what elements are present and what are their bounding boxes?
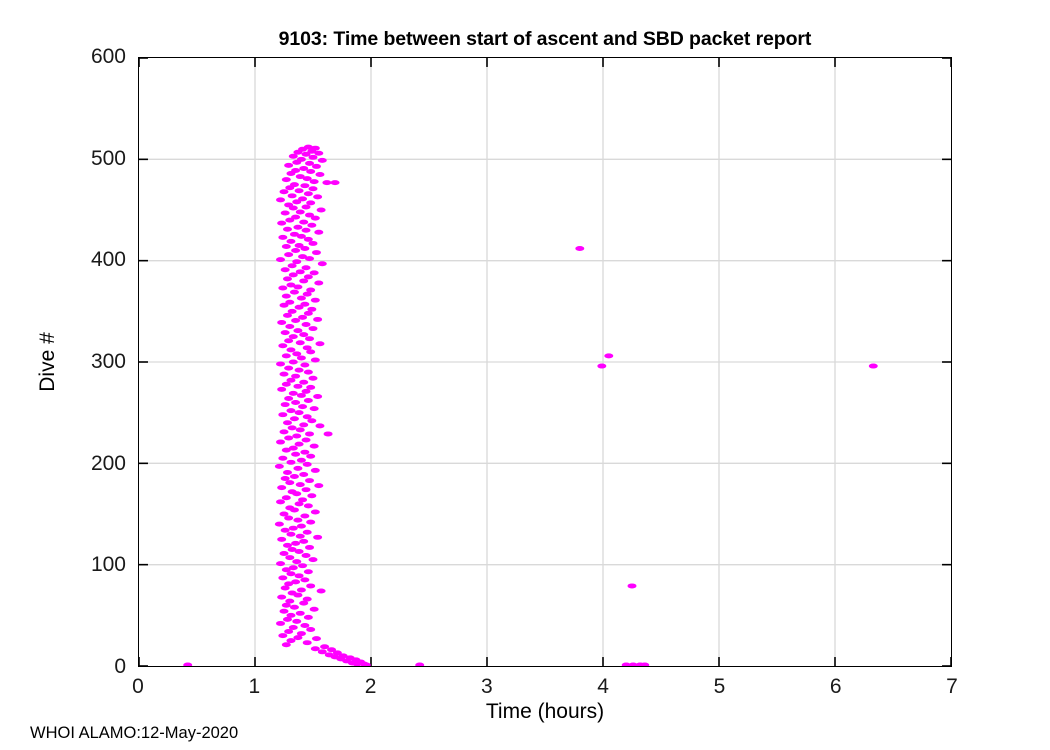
scatter-point	[302, 438, 311, 443]
scatter-point	[299, 220, 308, 225]
scatter-point	[275, 464, 284, 469]
scatter-point	[283, 276, 292, 281]
scatter-point	[293, 518, 302, 523]
scatter-point	[297, 393, 306, 398]
scatter-point	[296, 534, 305, 539]
scatter-point	[284, 366, 293, 371]
x-tick-label: 6	[830, 675, 842, 699]
scatter-point	[305, 431, 314, 436]
scatter-point	[290, 290, 299, 295]
scatter-point	[309, 186, 318, 191]
scatter-point	[306, 349, 315, 354]
scatter-point	[310, 179, 319, 184]
scatter-point	[311, 509, 320, 514]
x-tick-label: 3	[481, 675, 493, 699]
scatter-point	[281, 585, 290, 590]
scatter-point	[284, 396, 293, 401]
scatter-point	[299, 380, 308, 385]
scatter-point	[292, 619, 301, 624]
scatter-point	[307, 493, 316, 498]
scatter-point	[306, 169, 315, 174]
scatter-point	[282, 603, 291, 608]
x-tick-label: 4	[597, 675, 609, 699]
scatter-point	[303, 462, 312, 467]
scatter-point	[297, 296, 306, 301]
scatter-point	[296, 427, 305, 432]
scatter-point	[286, 571, 295, 576]
scatter-point	[289, 272, 298, 277]
scatter-point	[284, 629, 293, 634]
scatter-point	[305, 336, 314, 341]
scatter-point	[276, 561, 285, 566]
scatter-point	[284, 252, 293, 257]
scatter-point	[282, 495, 291, 500]
scatter-point	[314, 280, 323, 285]
scatter-point	[280, 609, 289, 614]
scatter-point	[288, 425, 297, 430]
scatter-point	[304, 370, 313, 375]
scatter-point	[285, 555, 294, 560]
scatter-point	[277, 320, 286, 325]
scatter-point	[282, 642, 291, 647]
scatter-point	[295, 501, 304, 506]
scatter-point	[276, 197, 285, 202]
scatter-point	[299, 278, 308, 283]
scatter-point	[286, 532, 295, 537]
scatter-point	[309, 376, 318, 381]
scatter-point	[302, 487, 311, 492]
scatter-point	[276, 621, 285, 626]
scatter-point	[283, 227, 292, 232]
scatter-point	[278, 412, 287, 417]
scatter-point	[314, 230, 323, 235]
scatter-point	[293, 593, 302, 598]
scatter-point	[302, 322, 311, 327]
scatter-point	[288, 263, 297, 268]
scatter-point	[283, 420, 292, 425]
y-tick-label: 200	[55, 452, 126, 476]
scatter-point	[295, 368, 304, 373]
scatter-point	[275, 522, 284, 527]
scatter-point	[278, 456, 287, 461]
scatter-point	[295, 410, 304, 415]
scatter-point	[283, 313, 292, 318]
scatter-point	[322, 180, 331, 185]
scatter-point	[289, 391, 298, 396]
scatter-point	[284, 163, 293, 168]
scatter-point	[303, 640, 312, 645]
scatter-point	[296, 210, 305, 215]
scatter-point	[289, 526, 298, 531]
scatter-point	[295, 188, 304, 193]
scatter-point	[299, 601, 308, 606]
scatter-point	[295, 442, 304, 447]
scatter-point	[306, 454, 315, 459]
scatter-point	[284, 436, 293, 441]
scatter-point	[293, 384, 302, 389]
scatter-point	[290, 507, 299, 512]
scatter-point	[300, 450, 309, 455]
scatter-point	[575, 246, 584, 251]
scatter-point	[310, 406, 319, 411]
scatter-point	[300, 577, 309, 582]
scatter-point	[304, 615, 313, 620]
scatter-point	[604, 353, 613, 358]
scatter-point	[309, 155, 318, 160]
scatter-point	[277, 537, 286, 542]
scatter-point	[282, 177, 291, 182]
y-tick-label: 0	[55, 655, 126, 679]
scatter-point	[307, 223, 316, 228]
scatter-point	[280, 189, 289, 194]
scatter-point	[324, 431, 333, 436]
scatter-point	[293, 225, 302, 230]
scatter-point	[305, 256, 314, 261]
scatter-point	[297, 524, 306, 529]
scatter-point	[297, 588, 306, 593]
scatter-point	[314, 151, 323, 156]
scatter-point	[317, 208, 326, 213]
scatter-point	[289, 205, 298, 210]
scatter-point	[282, 448, 291, 453]
scatter-point	[306, 583, 315, 588]
scatter-point	[277, 485, 286, 490]
scatter-point	[293, 466, 302, 471]
scatter-point	[297, 458, 306, 463]
scatter-point	[299, 332, 308, 337]
scatter-point	[628, 583, 637, 588]
scatter-point	[313, 194, 322, 199]
x-tick-label: 1	[248, 675, 260, 699]
scatter-point	[315, 423, 324, 428]
plot-area	[138, 57, 952, 667]
scatter-point	[296, 340, 305, 345]
y-tick-label: 300	[55, 350, 126, 374]
scatter-point	[282, 244, 291, 249]
scatter-point	[311, 298, 320, 303]
scatter-point	[288, 193, 297, 198]
scatter-point	[286, 171, 295, 176]
scatter-point	[313, 394, 322, 399]
scatter-point	[286, 408, 295, 413]
y-tick-label: 100	[55, 553, 126, 577]
scatter-point	[292, 559, 301, 564]
scatter-point	[317, 589, 326, 594]
scatter-point	[298, 404, 307, 409]
scatter-point	[278, 235, 287, 240]
scatter-point	[278, 575, 287, 580]
scatter-point	[278, 633, 287, 638]
scatter-point	[290, 605, 299, 610]
scatter-point	[309, 241, 318, 246]
scatter-point	[302, 228, 311, 233]
scatter-point	[293, 285, 302, 290]
scatter-point	[289, 360, 298, 365]
scatter-point	[298, 563, 307, 568]
scatter-point	[415, 662, 424, 666]
scatter-point	[295, 573, 304, 578]
scatter-point	[300, 514, 309, 519]
scatter-point	[280, 303, 289, 308]
x-tick-label: 5	[714, 675, 726, 699]
scatter-point	[313, 317, 322, 322]
scatter-series	[183, 145, 878, 666]
scatter-point	[285, 324, 294, 329]
scatter-point	[281, 267, 290, 272]
scatter-point	[281, 211, 290, 216]
scatter-point	[306, 520, 315, 525]
scatter-point	[331, 180, 340, 185]
y-tick-label: 500	[55, 147, 126, 171]
scatter-point	[311, 468, 320, 473]
scatter-point	[291, 318, 300, 323]
scatter-point	[291, 400, 300, 405]
scatter-point	[276, 257, 285, 262]
scatter-point	[183, 662, 192, 666]
x-tick-label: 7	[946, 675, 958, 699]
scatter-point	[311, 357, 320, 362]
scatter-point	[312, 250, 321, 255]
scatter-point	[310, 607, 319, 612]
scatter-point	[278, 286, 287, 291]
scatter-point	[285, 480, 294, 485]
scatter-point	[299, 472, 308, 477]
scatter-point	[305, 478, 314, 483]
scatter-point	[305, 545, 314, 550]
y-tick-label: 400	[55, 248, 126, 272]
scatter-point	[283, 470, 292, 475]
scatter-point	[310, 270, 319, 275]
scatter-point	[303, 530, 312, 535]
scatter-point	[276, 362, 285, 367]
scatter-point	[280, 372, 289, 377]
scatter-point	[312, 636, 321, 641]
scatter-point	[309, 326, 318, 331]
scatter-point	[307, 418, 316, 423]
scatter-point	[291, 248, 300, 253]
scatter-point	[300, 623, 309, 628]
scatter-point	[314, 483, 323, 488]
scatter-point	[292, 160, 301, 165]
scatter-point	[296, 482, 305, 487]
x-axis-label: Time (hours)	[486, 700, 604, 724]
scatter-point	[300, 183, 309, 188]
scatter-point	[276, 440, 285, 445]
scatter-point	[304, 569, 313, 574]
scatter-point	[286, 239, 295, 244]
scatter-point	[295, 549, 304, 554]
y-axis-label: Dive #	[36, 332, 60, 392]
scatter-point	[280, 429, 289, 434]
scatter-point	[282, 294, 291, 299]
scatter-point	[278, 343, 287, 348]
scatter-point	[293, 328, 302, 333]
scatter-point	[277, 221, 286, 226]
y-tick-label: 600	[55, 45, 126, 69]
scatter-point	[284, 516, 293, 521]
scatter-point	[282, 382, 291, 387]
chart-title: 9103: Time between start of ascent and S…	[138, 28, 952, 51]
scatter-points-layer	[139, 58, 951, 666]
x-tick-label: 2	[365, 675, 377, 699]
scatter-point	[281, 402, 290, 407]
scatter-point	[302, 204, 311, 209]
scatter-point	[292, 433, 301, 438]
scatter-point	[276, 499, 285, 504]
scatter-point	[297, 355, 306, 360]
scatter-point	[292, 199, 301, 204]
scatter-point	[303, 292, 312, 297]
scatter-point	[869, 364, 878, 369]
scatter-point	[291, 541, 300, 546]
scatter-point	[312, 164, 321, 169]
scatter-point	[282, 353, 291, 358]
scatter-point	[299, 539, 308, 544]
scatter-point	[285, 218, 294, 223]
scatter-point	[296, 611, 305, 616]
scatter-point	[304, 191, 313, 196]
scatter-point	[306, 627, 315, 632]
scatter-point	[290, 416, 299, 421]
scatter-point	[304, 503, 313, 508]
scatter-point	[292, 491, 301, 496]
scatter-point	[281, 528, 290, 533]
scatter-point	[284, 338, 293, 343]
scatter-point	[315, 172, 324, 177]
scatter-point	[277, 387, 286, 392]
footer-note: WHOI ALAMO:12-May-2020	[30, 724, 238, 743]
scatter-point	[286, 460, 295, 465]
scatter-point	[295, 305, 304, 310]
scatter-point	[289, 154, 298, 159]
scatter-point	[286, 347, 295, 352]
scatter-point	[300, 363, 309, 368]
scatter-point	[283, 617, 292, 622]
scatter-point	[318, 261, 327, 266]
scatter-point	[285, 185, 294, 190]
scatter-point	[302, 265, 311, 270]
scatter-point	[291, 452, 300, 457]
scatter-point	[318, 158, 327, 163]
scatter-point	[310, 444, 319, 449]
scatter-point	[315, 341, 324, 346]
scatter-point	[300, 246, 309, 251]
scatter-point	[280, 551, 289, 556]
scatter-point	[299, 422, 308, 427]
figure-canvas: 9103: Time between start of ascent and S…	[0, 0, 1050, 750]
x-tick-label: 0	[132, 675, 144, 699]
scatter-point	[304, 398, 313, 403]
scatter-point	[290, 474, 299, 479]
scatter-point	[597, 364, 606, 369]
scatter-point	[302, 553, 311, 558]
scatter-point	[309, 557, 318, 562]
scatter-point	[304, 311, 313, 316]
scatter-point	[311, 216, 320, 221]
scatter-point	[313, 535, 322, 540]
scatter-point	[281, 330, 290, 335]
scatter-point	[277, 595, 286, 600]
